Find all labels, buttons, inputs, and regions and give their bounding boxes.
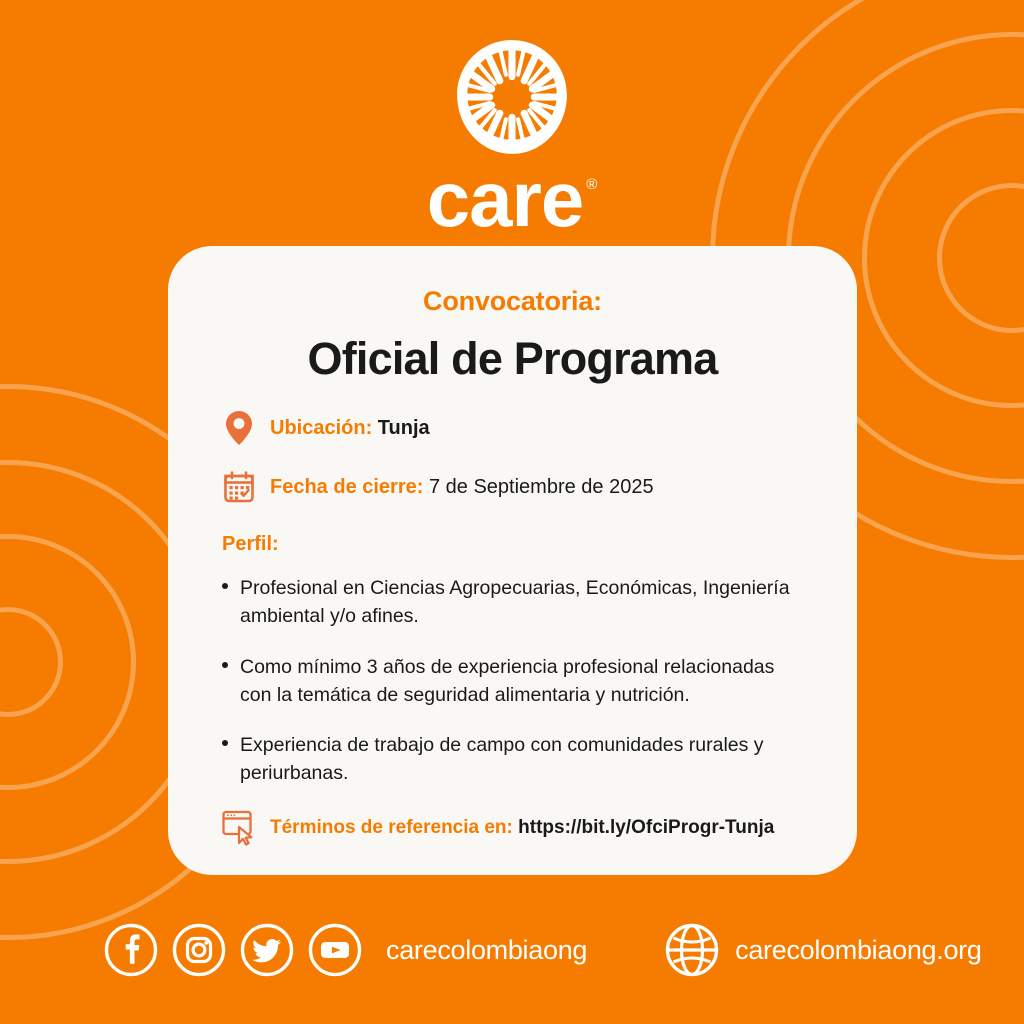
list-item: Profesional en Ciencias Agropecuarias, E…	[240, 574, 797, 631]
location-text: Ubicación: Tunja	[270, 417, 430, 440]
map-pin-icon	[222, 411, 256, 445]
closing-date-label: Fecha de cierre:	[270, 476, 429, 498]
care-sunburst-logo-icon	[451, 36, 573, 158]
terms-of-reference-label: Términos de referencia en:	[270, 817, 518, 838]
social-links-group: carecolombiaong	[104, 923, 587, 977]
terms-of-reference-row[interactable]: Términos de referencia en: https://bit.l…	[222, 810, 857, 846]
list-item: Como mínimo 3 años de experiencia profes…	[240, 653, 797, 710]
facebook-icon[interactable]	[104, 923, 158, 977]
registered-trademark-icon: ®	[586, 176, 597, 193]
social-handle: carecolombiaong	[386, 935, 587, 966]
youtube-icon[interactable]	[308, 923, 362, 977]
website-url: carecolombiaong.org	[735, 935, 981, 966]
website-group: carecolombiaong.org	[665, 923, 981, 977]
job-posting-card: Convocatoria: Oficial de Programa Ubicac…	[168, 246, 857, 875]
terms-of-reference-url[interactable]: https://bit.ly/OfciProgr-Tunja	[518, 817, 774, 838]
profile-requirements-list: Profesional en Ciencias Agropecuarias, E…	[168, 574, 857, 788]
care-wordmark: care	[427, 164, 584, 236]
closing-date-value: 7 de Septiembre de 2025	[429, 476, 654, 498]
closing-date-row: Fecha de cierre: 7 de Septiembre de 2025	[222, 471, 857, 503]
calendar-icon	[222, 471, 256, 503]
eyebrow-label: Convocatoria:	[168, 286, 857, 317]
page-title: Oficial de Programa	[168, 333, 857, 385]
globe-icon	[665, 923, 719, 977]
twitter-icon[interactable]	[240, 923, 294, 977]
closing-date-text: Fecha de cierre: 7 de Septiembre de 2025	[270, 476, 654, 499]
care-logo: care ®	[0, 36, 1024, 236]
instagram-icon[interactable]	[172, 923, 226, 977]
browser-window-cursor-icon	[222, 810, 256, 846]
terms-of-reference-text: Términos de referencia en: https://bit.l…	[270, 817, 774, 839]
poster-canvas: care ® Convocatoria: Oficial de Programa…	[0, 0, 1024, 1024]
list-item: Experiencia de trabajo de campo con comu…	[240, 731, 797, 788]
location-row: Ubicación: Tunja	[222, 411, 857, 445]
footer: carecolombiaong carecolombiaong.org	[0, 910, 1024, 990]
location-label: Ubicación:	[270, 417, 378, 439]
profile-heading: Perfil:	[222, 533, 857, 556]
location-value: Tunja	[378, 417, 430, 439]
